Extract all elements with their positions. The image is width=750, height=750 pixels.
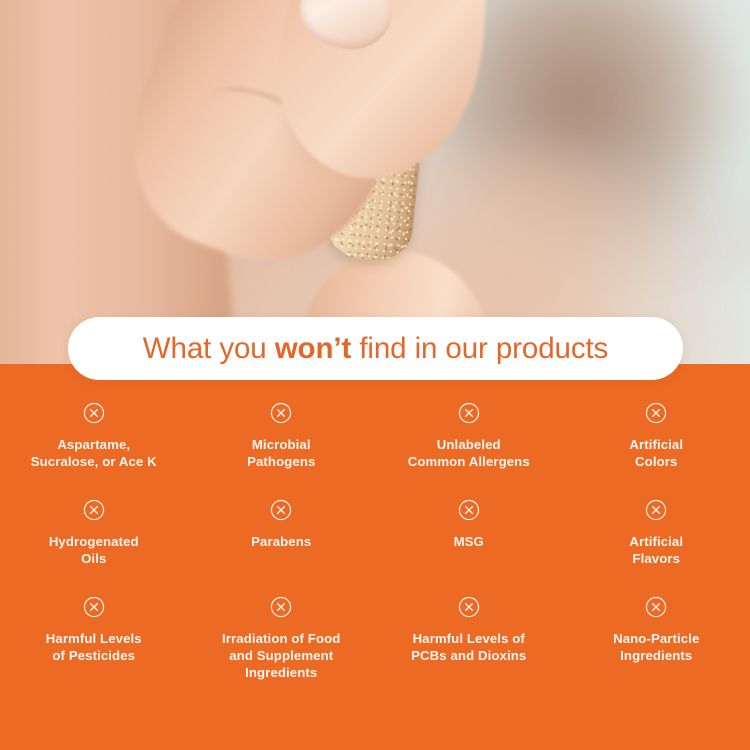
- claims-panel: Aspartame, Sucralose, or Ace KMicrobial …: [0, 364, 750, 750]
- title-emphasis: won’t: [275, 332, 352, 365]
- claim-item-label: Harmful Levels of PCBs and Dioxins: [411, 630, 526, 664]
- claim-item: Irradiation of Food and Supplement Ingre…: [188, 596, 376, 681]
- circle-x-icon: [645, 596, 667, 618]
- claim-item: MSG: [375, 499, 563, 567]
- claim-item: Microbial Pathogens: [188, 402, 376, 470]
- claim-item-label: Artificial Flavors: [629, 533, 683, 567]
- circle-x-icon: [83, 402, 105, 424]
- title-suffix: find in our products: [351, 332, 608, 365]
- circle-x-icon: [645, 402, 667, 424]
- circle-x-icon: [645, 499, 667, 521]
- claim-item: Artificial Colors: [563, 402, 750, 470]
- claim-item-label: Aspartame, Sucralose, or Ace K: [31, 436, 157, 470]
- hero-photo: [0, 0, 750, 364]
- circle-x-icon: [270, 596, 292, 618]
- claim-item: Unlabeled Common Allergens: [375, 402, 563, 470]
- circle-x-icon: [270, 402, 292, 424]
- claim-item-label: Irradiation of Food and Supplement Ingre…: [222, 630, 340, 681]
- page-title: What you won’t find in our products: [143, 334, 608, 364]
- claim-item: Aspartame, Sucralose, or Ace K: [0, 402, 188, 470]
- circle-x-icon: [458, 596, 480, 618]
- circle-x-icon: [270, 499, 292, 521]
- claim-item-label: Harmful Levels of Pesticides: [46, 630, 142, 664]
- claim-item: Hydrogenated Oils: [0, 499, 188, 567]
- forearm-vein-detail: [0, 178, 13, 320]
- claim-item-label: Artificial Colors: [629, 436, 683, 470]
- claim-item: Parabens: [188, 499, 376, 567]
- claim-item-label: Hydrogenated Oils: [49, 533, 139, 567]
- circle-x-icon: [83, 596, 105, 618]
- circle-x-icon: [83, 499, 105, 521]
- headline-banner: What you won’t find in our products: [68, 317, 683, 380]
- claim-item: Artificial Flavors: [563, 499, 750, 567]
- claims-grid: Aspartame, Sucralose, or Ace KMicrobial …: [0, 402, 750, 681]
- claim-item-label: Unlabeled Common Allergens: [408, 436, 530, 470]
- circle-x-icon: [458, 402, 480, 424]
- claim-item-label: MSG: [454, 533, 484, 550]
- circle-x-icon: [458, 499, 480, 521]
- claim-item: Nano-Particle Ingredients: [563, 596, 750, 681]
- claim-item: Harmful Levels of Pesticides: [0, 596, 188, 681]
- title-prefix: What you: [143, 332, 275, 365]
- claim-item-label: Nano-Particle Ingredients: [613, 630, 699, 664]
- product-claims-graphic: Aspartame, Sucralose, or Ace KMicrobial …: [0, 0, 750, 750]
- claim-item: Harmful Levels of PCBs and Dioxins: [375, 596, 563, 681]
- claim-item-label: Microbial Pathogens: [247, 436, 315, 470]
- claim-item-label: Parabens: [251, 533, 311, 550]
